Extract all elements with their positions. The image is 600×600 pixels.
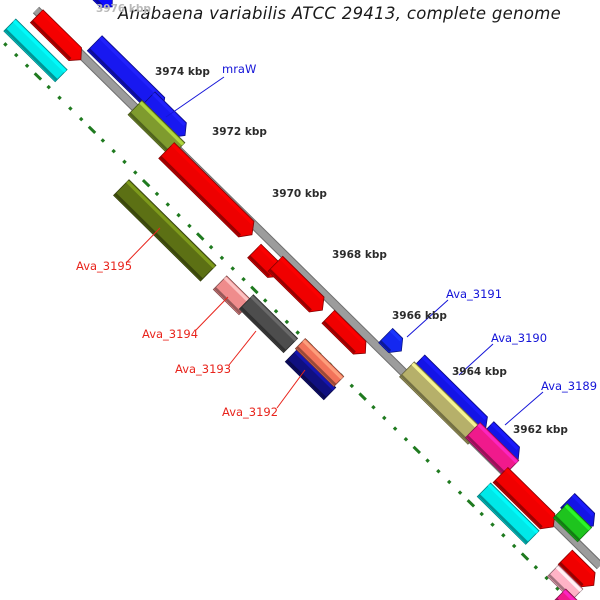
tick-dot-icon: [69, 107, 71, 109]
tick-dot-icon: [491, 524, 493, 526]
axis-tick-label: 3968 kbp: [332, 249, 387, 261]
tick-dot-icon: [383, 417, 385, 419]
tick-dot-icon: [123, 161, 125, 163]
tick-dash-icon: [89, 127, 95, 133]
tick-dot-icon: [26, 65, 28, 67]
gene-label-ava_3190[interactable]: Ava_3190: [491, 331, 547, 345]
tick-dash-icon: [468, 500, 474, 506]
tick-dot-icon: [221, 257, 223, 259]
tick-dot-icon: [459, 492, 461, 494]
tick-dot-icon: [134, 171, 136, 173]
tick-dot-icon: [351, 385, 353, 387]
tick-dot-icon: [394, 427, 396, 429]
tick-dot-icon: [177, 214, 179, 216]
tick-dot-icon: [58, 97, 60, 99]
gene-label-ava_3189[interactable]: Ava_3189: [541, 379, 597, 393]
label-leader-line: [277, 370, 305, 408]
tick-dot-icon: [48, 86, 50, 88]
axis-tick-label: 3972 kbp: [212, 126, 267, 138]
tick-dash-icon: [143, 180, 149, 186]
label-leader-line: [196, 297, 228, 330]
tick-dot-icon: [4, 43, 6, 45]
tick-dash-icon: [359, 393, 365, 399]
label-leader-line: [126, 228, 160, 263]
axis-tick-label: 3976 kbp: [96, 3, 151, 15]
tick-dot-icon: [275, 310, 277, 312]
page-title: Anabaena variabilis ATCC 29413, complete…: [118, 4, 561, 23]
tick-dash-icon: [414, 447, 420, 453]
tick-dot-icon: [15, 54, 17, 56]
tick-dot-icon: [232, 267, 234, 269]
tick-dot-icon: [188, 225, 190, 227]
gene-label-mraw[interactable]: mraW: [222, 62, 256, 76]
tick-dot-icon: [437, 470, 439, 472]
axis-tick-label: 3974 kbp: [155, 66, 210, 78]
gene-label-ava_3195[interactable]: Ava_3195: [76, 259, 132, 273]
tick-dot-icon: [481, 513, 483, 515]
axis-tick-label: 3962 kbp: [513, 424, 568, 436]
tick-dot-icon: [426, 459, 428, 461]
gene-feature: [239, 295, 297, 353]
axis-tick-label: 3964 kbp: [452, 366, 507, 378]
tick-dot-icon: [513, 545, 515, 547]
tick-dot-icon: [286, 321, 288, 323]
axis-tick-label: 3970 kbp: [272, 188, 327, 200]
tick-dot-icon: [372, 406, 374, 408]
gene-label-ava_3193[interactable]: Ava_3193: [175, 362, 231, 376]
gene-label-ava_3192[interactable]: Ava_3192: [222, 405, 278, 419]
tick-dot-icon: [102, 139, 104, 141]
axis-tick-label: 3966 kbp: [392, 310, 447, 322]
genome-map-view: Anabaena variabilis ATCC 29413, complete…: [0, 0, 600, 600]
tick-dot-icon: [80, 118, 82, 120]
tick-dot-icon: [113, 150, 115, 152]
tick-dot-icon: [405, 438, 407, 440]
label-leader-line: [505, 392, 543, 425]
tick-dash-icon: [35, 73, 41, 79]
tick-dot-icon: [297, 331, 299, 333]
tick-dot-icon: [210, 246, 212, 248]
tick-dot-icon: [156, 193, 158, 195]
tick-dot-icon: [448, 481, 450, 483]
label-leader-line: [229, 331, 256, 365]
genome-map-canvas: [0, 0, 600, 600]
tick-dash-icon: [197, 233, 203, 239]
label-leader-line: [166, 77, 224, 117]
tick-dot-icon: [502, 534, 504, 536]
tick-dot-icon: [264, 299, 266, 301]
gene-label-ava_3194[interactable]: Ava_3194: [142, 327, 198, 341]
tick-dot-icon: [167, 203, 169, 205]
gene-label-ava_3191[interactable]: Ava_3191: [446, 287, 502, 301]
gene-feature-layer: [4, 0, 595, 600]
tick-dot-icon: [242, 278, 244, 280]
tick-dash-icon: [251, 287, 257, 293]
status-bar: Accession: NC_007413 Topology: circular;…: [0, 556, 600, 600]
